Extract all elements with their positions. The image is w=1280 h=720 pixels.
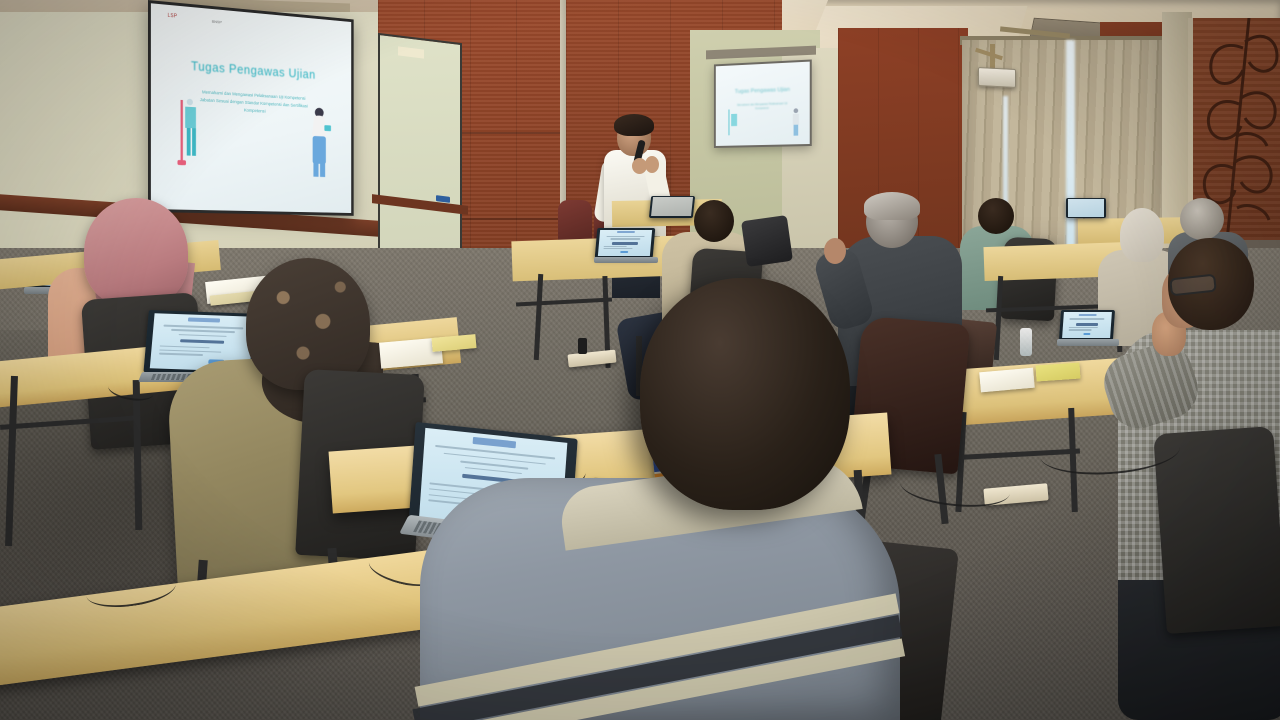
slide-body: Memahami dan Mengawasi Pelaksanaan Uji K… xyxy=(197,89,310,118)
slide-logo-left: LSP xyxy=(168,13,178,20)
slide-figure-right-icon xyxy=(307,104,332,178)
presenter-laptop[interactable] xyxy=(648,196,696,222)
secondary-projection-screen: Tugas Pengawas Ujian Memahami dan Mengaw… xyxy=(714,59,812,148)
participant-grey-polo-hair xyxy=(864,192,920,220)
secondary-slide-figure-right-icon xyxy=(790,106,802,137)
secondary-slide-figure-left-icon xyxy=(725,107,740,139)
slide-figure-left-icon xyxy=(175,94,208,169)
whiteboard xyxy=(378,33,462,269)
participant-patterned-hijab-head xyxy=(246,258,370,390)
main-projection-screen: LSP BNSP Tugas Pengawas Ujian Memahami d… xyxy=(148,0,354,216)
participant-green-head xyxy=(978,198,1014,234)
slide-title: Tugas Pengawas Ujian xyxy=(164,57,340,83)
participant-foreground-head xyxy=(640,278,850,510)
water-bottle xyxy=(1020,328,1032,356)
floor-bag-1 xyxy=(741,215,793,267)
slide-logo-right: BNSP xyxy=(212,19,222,25)
participant-back-row-head-2 xyxy=(1180,198,1224,240)
power-plug xyxy=(578,338,587,354)
right-back-laptop[interactable] xyxy=(1066,198,1108,222)
participant-beige-head xyxy=(694,200,734,242)
ceiling-projector xyxy=(978,67,1016,88)
right-mid-laptop[interactable] xyxy=(1060,310,1118,346)
participant-grey-polo-hand xyxy=(824,238,846,264)
secondary-slide-body: Memahami dan Mengawasi Pelaksanaan Uji K… xyxy=(730,102,794,113)
meeting-room-photo: LSP BNSP Tugas Pengawas Ujian Memahami d… xyxy=(0,0,1280,720)
participant-pink-hijab-head xyxy=(84,198,188,306)
participant-cream-hijab-head xyxy=(1120,208,1164,262)
secondary-slide-title: Tugas Pengawas Ujian xyxy=(716,86,810,96)
presenter-hair xyxy=(614,114,654,136)
center-participant-laptop[interactable] xyxy=(596,228,658,264)
sticky-note-right xyxy=(1035,362,1080,381)
presenter-hand-right xyxy=(645,156,659,173)
